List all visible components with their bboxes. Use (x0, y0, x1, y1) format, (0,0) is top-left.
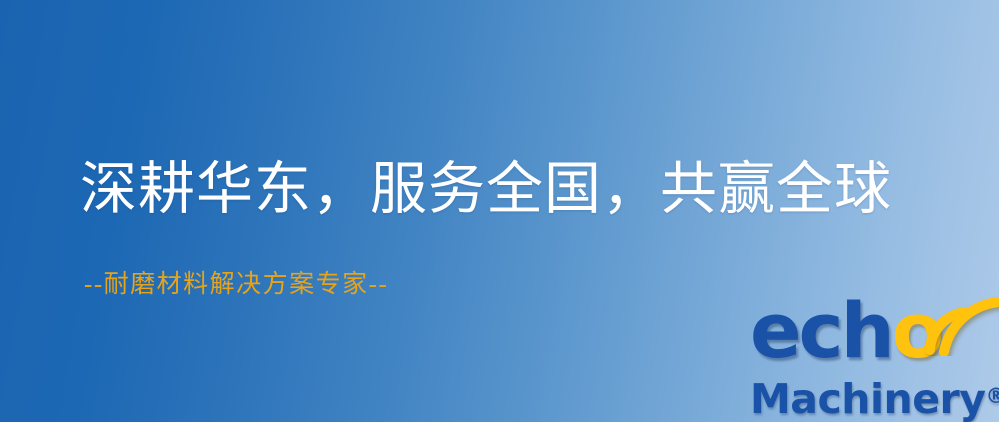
promotional-banner: 深耕华东，服务全国，共赢全球 --耐磨材料解决方案专家-- echo Machi… (0, 0, 999, 422)
logo-subname-text: Machinery (750, 375, 985, 422)
logo-subname: Machinery® (750, 372, 999, 422)
logo-wordmark-prefix: ech (750, 286, 892, 375)
banner-headline: 深耕华东，服务全国，共赢全球 (80, 155, 892, 225)
registered-trademark-icon: ® (985, 384, 999, 408)
banner-subtitle: --耐磨材料解决方案专家-- (84, 268, 388, 302)
signal-arcs-icon (924, 294, 999, 356)
company-logo: echo Machinery® (748, 296, 999, 422)
logo-wordmark-text: echo (750, 290, 941, 372)
logo-wordmark: echo (748, 296, 999, 378)
